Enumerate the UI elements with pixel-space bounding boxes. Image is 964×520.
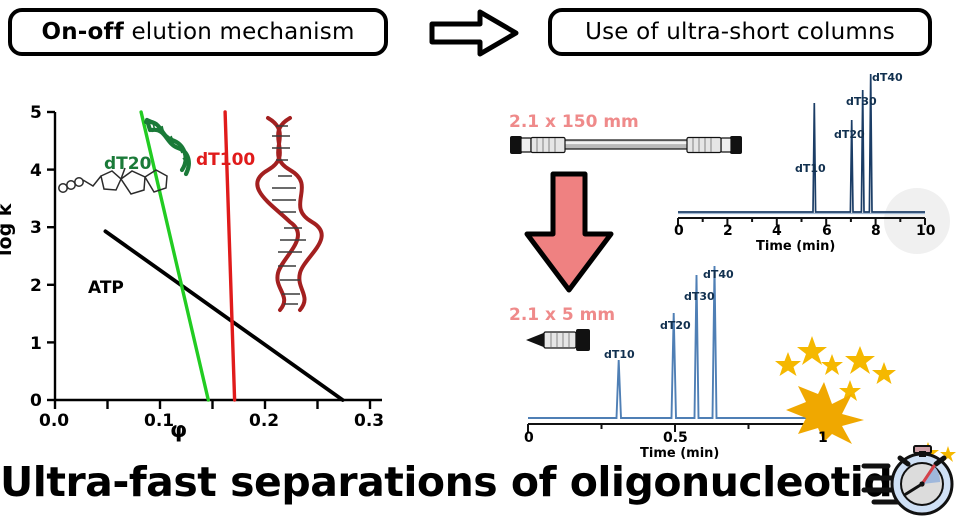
chrom150-peak-label-dt10: dT10 <box>795 162 826 175</box>
header-right-text: Use of ultra-short columns <box>585 19 895 45</box>
header-left-bold: On-off <box>41 19 124 45</box>
chrom5-peak-label-dt20: dT20 <box>660 319 691 332</box>
chrom150-peak-label-dt20: dT20 <box>834 128 865 141</box>
graphical-abstract: On-off elution mechanism Use of ultra-sh… <box>0 0 964 520</box>
header-left-rest: elution mechanism <box>124 19 355 45</box>
chrom150-x-axis-title: Time (min) <box>756 239 835 254</box>
chromatogram-trace <box>528 266 815 418</box>
lss-plot: log k φ 5 4 3 2 1 0 0.0 0.1 0.2 0.3 <box>0 70 420 450</box>
series-label-dt100: dT100 <box>196 150 255 170</box>
molecule-label-atp: ATP <box>88 278 124 298</box>
chromatogram-150mm <box>660 60 950 240</box>
grey-highlight-circle <box>884 188 950 254</box>
header-box-right: Use of ultra-short columns <box>548 8 932 56</box>
chrom150-tick-8: 8 <box>871 223 881 239</box>
chrom5-peak-label-dt40: dT40 <box>703 268 734 281</box>
chrom150-tick-0: 0 <box>674 223 684 239</box>
chrom150-tick-10: 10 <box>916 223 935 239</box>
long-dna-helix-icon <box>257 118 321 310</box>
chromatogram-trace <box>678 74 925 212</box>
chrom5-tick-1: 1 <box>818 430 828 446</box>
header-left-text: On-off elution mechanism <box>41 19 354 45</box>
chrom5-peak-label-dt30: dT30 <box>684 290 715 303</box>
stopwatch-icon <box>862 440 962 520</box>
page-title: Ultra-fast separations of oligonucleotid… <box>0 458 880 506</box>
chrom5-tick-05: 0.5 <box>663 430 688 446</box>
lss-plot-canvas <box>0 70 420 450</box>
series-label-dt20: dT20 <box>104 154 151 174</box>
right-arrow-icon <box>428 8 520 58</box>
series-line-atp <box>105 231 342 400</box>
chrom150-tick-4: 4 <box>772 223 782 239</box>
column-dimension-long: 2.1 x 150 mm <box>509 112 639 132</box>
chrom150-tick-6: 6 <box>822 223 832 239</box>
chrom150-tick-2: 2 <box>723 223 733 239</box>
chrom150-peak-label-dt40: dT40 <box>872 71 903 84</box>
chrom5-tick-0: 0 <box>524 430 534 446</box>
chrom5-peak-label-dt10: dT10 <box>604 348 635 361</box>
chrom150-peak-label-dt30: dT30 <box>846 95 877 108</box>
header-box-left: On-off elution mechanism <box>8 8 388 56</box>
star-burst-icon <box>780 334 910 444</box>
